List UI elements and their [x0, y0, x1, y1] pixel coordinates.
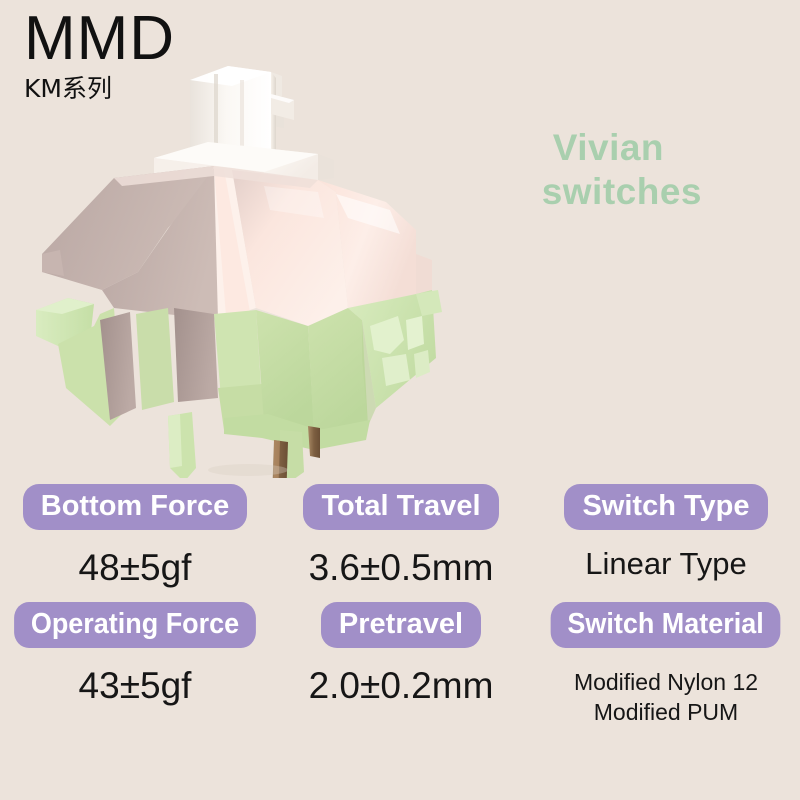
spec-label-bottom-force: Bottom Force — [23, 484, 248, 530]
product-title-line1: Vivian — [553, 127, 664, 168]
spec-value-total-travel: 3.6±0.5mm — [309, 547, 494, 588]
spec-value-material-line1: Modified Nylon 12 — [574, 668, 758, 698]
switch-shadow — [208, 464, 288, 476]
spec-grid: Bottom Force 48±5gf Total Travel 3.6±0.5… — [0, 484, 800, 742]
switch-bottom-housing — [36, 290, 442, 450]
switch-top-housing — [42, 166, 432, 326]
spec-label-operating-force: Operating Force — [14, 602, 256, 648]
switch-product-image — [18, 58, 448, 478]
product-title-line2: switches — [542, 170, 702, 214]
spec-value-operating-force: 43±5gf — [79, 665, 192, 706]
spec-switch-type: Switch Type Linear Type — [532, 484, 800, 602]
spec-value-bottom-force: 48±5gf — [79, 547, 192, 588]
spec-pretravel: Pretravel 2.0±0.2mm — [270, 602, 532, 742]
spec-label-total-travel: Total Travel — [303, 484, 498, 530]
spec-value-switch-type: Linear Type — [585, 547, 746, 582]
product-spec-page: MMD KM系列 Vivian switches — [0, 0, 800, 800]
spec-value-switch-material: Modified Nylon 12 Modified PUM — [574, 668, 758, 728]
spec-label-switch-type: Switch Type — [564, 484, 767, 530]
spec-label-pretravel: Pretravel — [321, 602, 481, 648]
switch-illustration — [18, 58, 448, 478]
spec-bottom-force: Bottom Force 48±5gf — [0, 484, 270, 602]
spec-total-travel: Total Travel 3.6±0.5mm — [270, 484, 532, 602]
spec-value-material-line2: Modified PUM — [574, 698, 758, 728]
spec-switch-material: Switch Material Modified Nylon 12 Modifi… — [532, 602, 800, 742]
product-title: Vivian switches — [553, 126, 702, 213]
spec-label-switch-material: Switch Material — [551, 602, 781, 648]
spec-value-pretravel: 2.0±0.2mm — [309, 665, 494, 706]
spec-operating-force: Operating Force 43±5gf — [0, 602, 270, 742]
